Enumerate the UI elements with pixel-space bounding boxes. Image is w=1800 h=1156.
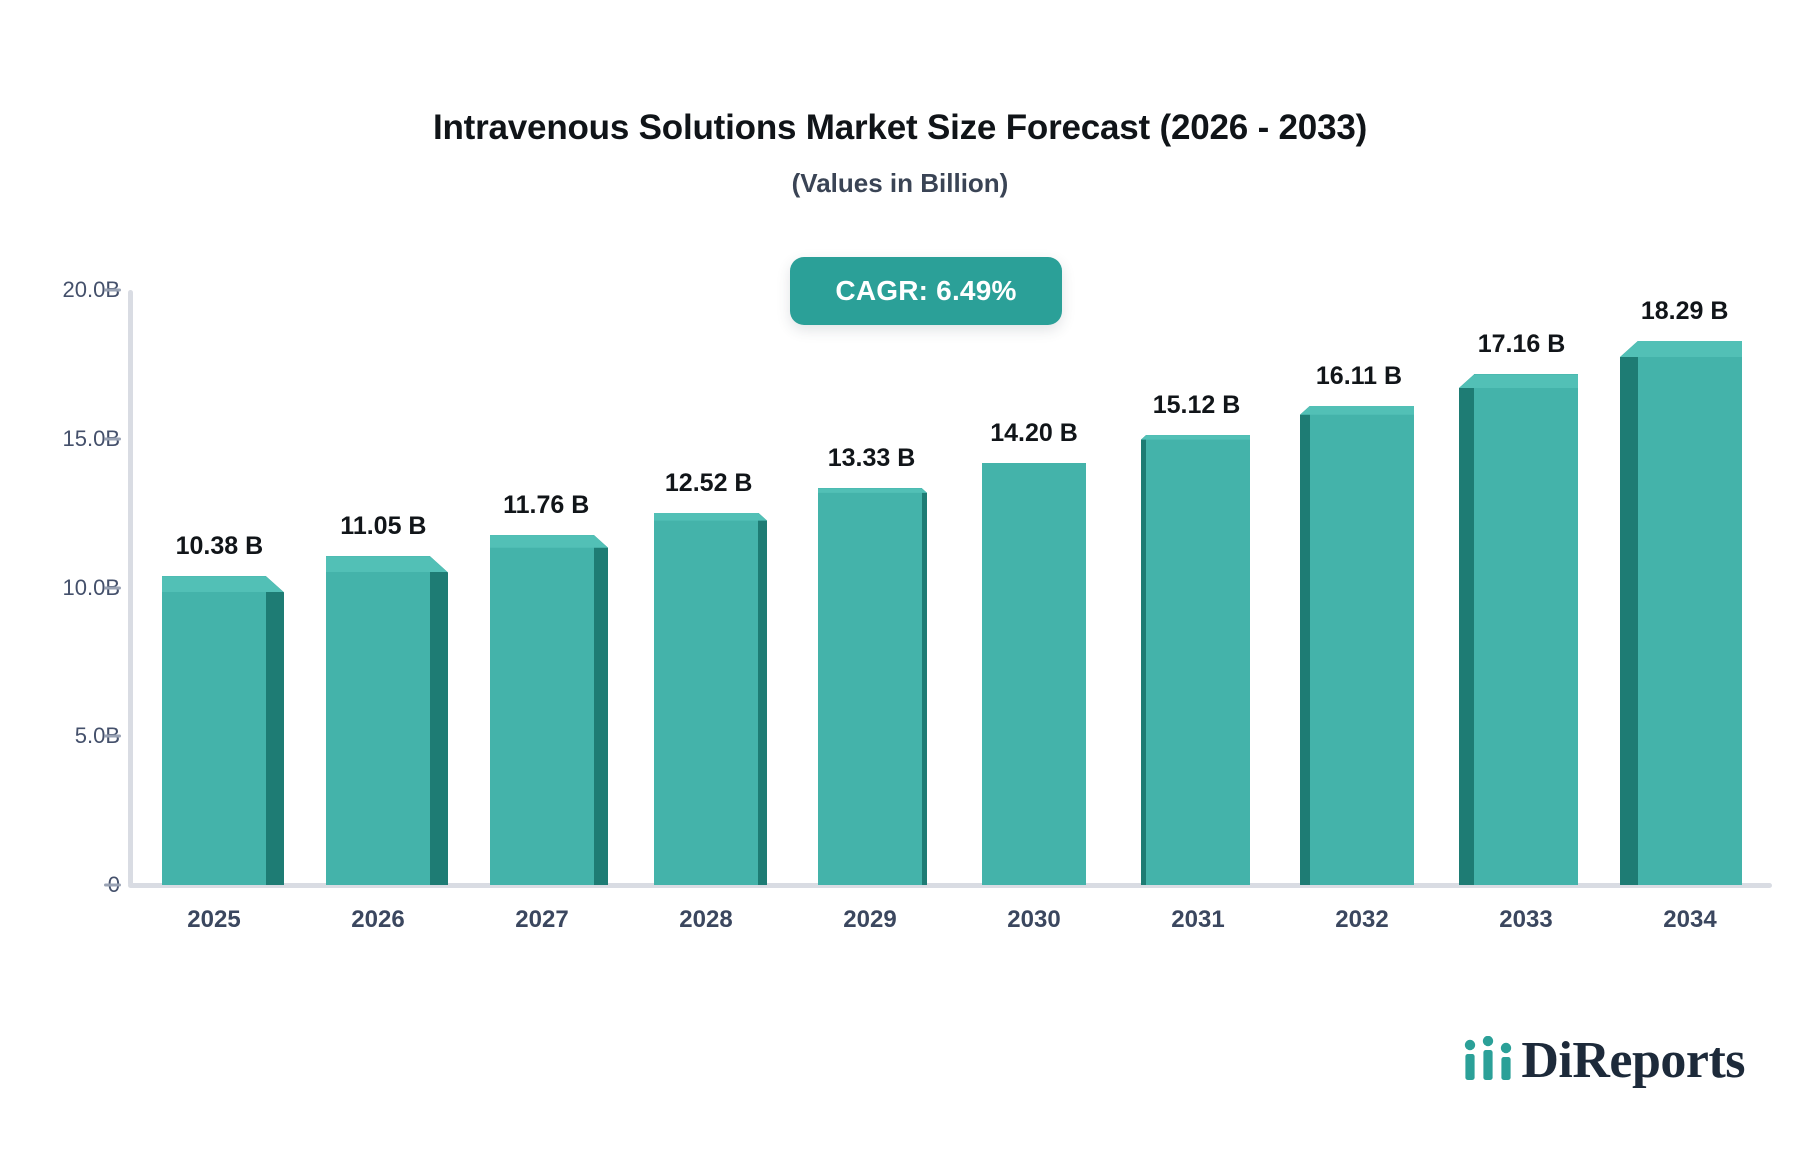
bar-front-face bbox=[982, 463, 1086, 885]
bar-value-label: 11.05 B bbox=[340, 512, 426, 541]
x-axis-tick-label: 2031 bbox=[1171, 906, 1224, 934]
x-axis-tick-label: 2029 bbox=[843, 906, 896, 934]
bar-top-face bbox=[818, 488, 927, 493]
x-axis-tick-label: 2028 bbox=[679, 906, 732, 934]
bar-front-face bbox=[490, 535, 594, 885]
bar-value-label: 11.76 B bbox=[503, 491, 589, 520]
bar[interactable] bbox=[1459, 374, 1578, 885]
bar-side-face bbox=[1459, 374, 1474, 885]
bar[interactable] bbox=[326, 556, 448, 885]
y-axis-tick-label: 0 bbox=[0, 872, 120, 898]
chart-title: Intravenous Solutions Market Size Foreca… bbox=[0, 108, 1800, 148]
bar-side-face bbox=[1300, 406, 1310, 885]
y-axis-tick-label: 10.0B bbox=[0, 575, 120, 601]
bar[interactable] bbox=[654, 513, 767, 885]
bar-side-face bbox=[266, 576, 284, 885]
y-axis-tick-mark bbox=[104, 437, 121, 440]
bar[interactable] bbox=[982, 463, 1086, 885]
bar-side-face bbox=[594, 535, 608, 885]
bar-top-face bbox=[1459, 374, 1578, 388]
bar-value-label: 12.52 B bbox=[665, 469, 753, 498]
x-axis-tick-label: 2027 bbox=[515, 906, 568, 934]
y-axis-tick-label: 20.0B bbox=[0, 277, 120, 303]
y-axis-tick-label: 15.0B bbox=[0, 426, 120, 452]
bar-front-face bbox=[1310, 406, 1414, 885]
bar-side-face bbox=[758, 513, 767, 885]
brand-name: DiReports bbox=[1521, 1035, 1745, 1087]
bar-front-face bbox=[1146, 435, 1250, 885]
bar-top-face bbox=[1141, 435, 1250, 440]
x-axis-tick-label: 2034 bbox=[1663, 906, 1716, 934]
x-axis-tick-label: 2032 bbox=[1335, 906, 1388, 934]
y-axis-tick-mark bbox=[104, 735, 121, 738]
brand-logo: DiReports bbox=[1463, 1035, 1745, 1087]
x-axis-tick-label: 2033 bbox=[1499, 906, 1552, 934]
bar-value-label: 16.11 B bbox=[1316, 362, 1402, 391]
bar-side-face bbox=[430, 556, 448, 885]
bar[interactable] bbox=[1300, 406, 1414, 885]
plot-area bbox=[132, 290, 1772, 886]
bar-top-face bbox=[1620, 341, 1742, 357]
bar-value-label: 14.20 B bbox=[990, 419, 1078, 448]
bar-top-face bbox=[162, 576, 284, 592]
bar-front-face bbox=[818, 488, 922, 885]
bar-value-label: 17.16 B bbox=[1478, 330, 1566, 359]
bar-value-label: 15.12 B bbox=[1153, 391, 1241, 420]
bar[interactable] bbox=[490, 535, 608, 885]
bar-front-face bbox=[654, 513, 758, 885]
bar-top-face bbox=[490, 535, 608, 548]
bar-front-face bbox=[1638, 341, 1742, 885]
chart-subtitle: (Values in Billion) bbox=[0, 168, 1800, 199]
bar-value-label: 13.33 B bbox=[828, 444, 916, 473]
bar-front-face bbox=[326, 556, 430, 885]
y-axis-tick-mark bbox=[104, 884, 121, 887]
bar-top-face bbox=[326, 556, 448, 572]
bar[interactable] bbox=[162, 576, 284, 885]
bar-chart-icon bbox=[1463, 1036, 1515, 1087]
bar-value-label: 18.29 B bbox=[1641, 297, 1729, 326]
chart-figure: Intravenous Solutions Market Size Foreca… bbox=[0, 0, 1800, 1156]
y-axis-tick-mark bbox=[104, 289, 121, 292]
x-axis-tick-label: 2030 bbox=[1007, 906, 1060, 934]
x-axis-tick-label: 2026 bbox=[351, 906, 404, 934]
bar-value-label: 10.38 B bbox=[176, 532, 264, 561]
bar-top-face bbox=[1300, 406, 1414, 415]
bar-front-face bbox=[1474, 374, 1578, 885]
bar[interactable] bbox=[1620, 341, 1742, 885]
bar[interactable] bbox=[818, 488, 927, 885]
y-axis-tick-label: 5.0B bbox=[0, 723, 120, 749]
bar-front-face bbox=[162, 576, 266, 885]
x-axis-tick-label: 2025 bbox=[187, 906, 240, 934]
bar-top-face bbox=[654, 513, 767, 521]
bar-side-face bbox=[1620, 341, 1638, 885]
y-axis-tick-mark bbox=[104, 586, 121, 589]
bar[interactable] bbox=[1141, 435, 1250, 885]
bar-side-face bbox=[922, 488, 927, 885]
